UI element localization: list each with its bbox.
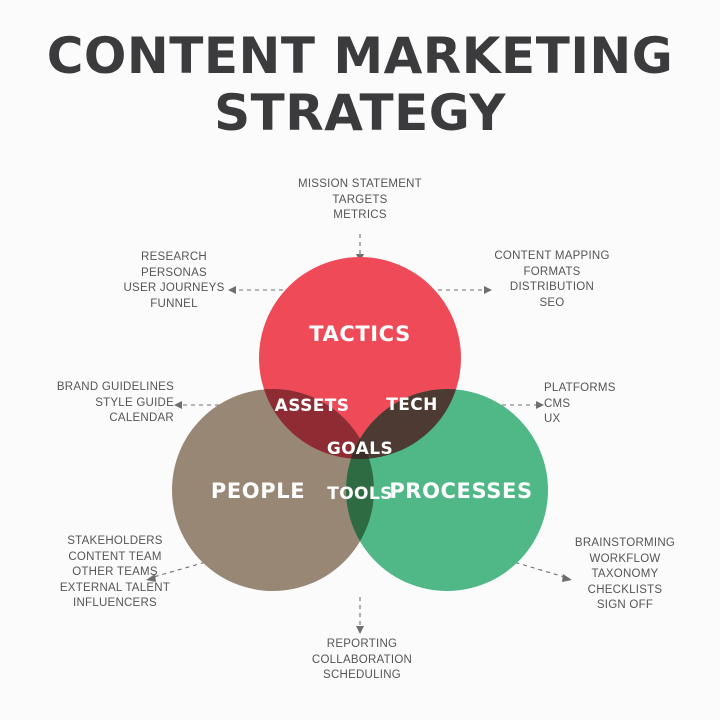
arrow-reporting — [356, 626, 364, 634]
venn-label-tactics[interactable]: TACTICS — [309, 322, 411, 346]
arrow-platforms — [536, 401, 544, 409]
note-stakeholders: STAKEHOLDERSCONTENT TEAMOTHER TEAMSEXTER… — [46, 534, 184, 612]
note-reporting: REPORTINGCOLLABORATIONSCHEDULING — [292, 637, 432, 684]
venn-label-tech[interactable]: TECH — [386, 395, 438, 415]
note-mission: MISSION STATEMENTTARGETSMETRICS — [280, 177, 440, 224]
arrow-brand — [174, 401, 182, 409]
venn-label-processes[interactable]: PROCESSES — [389, 479, 532, 503]
note-platforms: PLATFORMSCMSUX — [544, 381, 664, 428]
note-brainstorming: BRAINSTORMINGWORKFLOWTAXONOMYCHECKLISTSS… — [560, 536, 690, 614]
venn-label-goals[interactable]: GOALS — [327, 439, 393, 459]
note-brand-guidelines: BRAND GUIDELINESSTYLE GUIDECALENDAR — [52, 380, 174, 427]
venn-label-tools[interactable]: TOOLS — [327, 484, 393, 504]
note-content-mapping: CONTENT MAPPINGFORMATSDISTRIBUTIONSEO — [482, 249, 622, 311]
infographic-canvas: CONTENT MARKETING STRATEGY — [0, 0, 720, 720]
note-research: RESEARCHPERSONASUSER JOURNEYSFUNNEL — [110, 250, 238, 312]
venn-label-people[interactable]: PEOPLE — [211, 479, 305, 503]
venn-label-assets[interactable]: ASSETS — [275, 396, 350, 416]
